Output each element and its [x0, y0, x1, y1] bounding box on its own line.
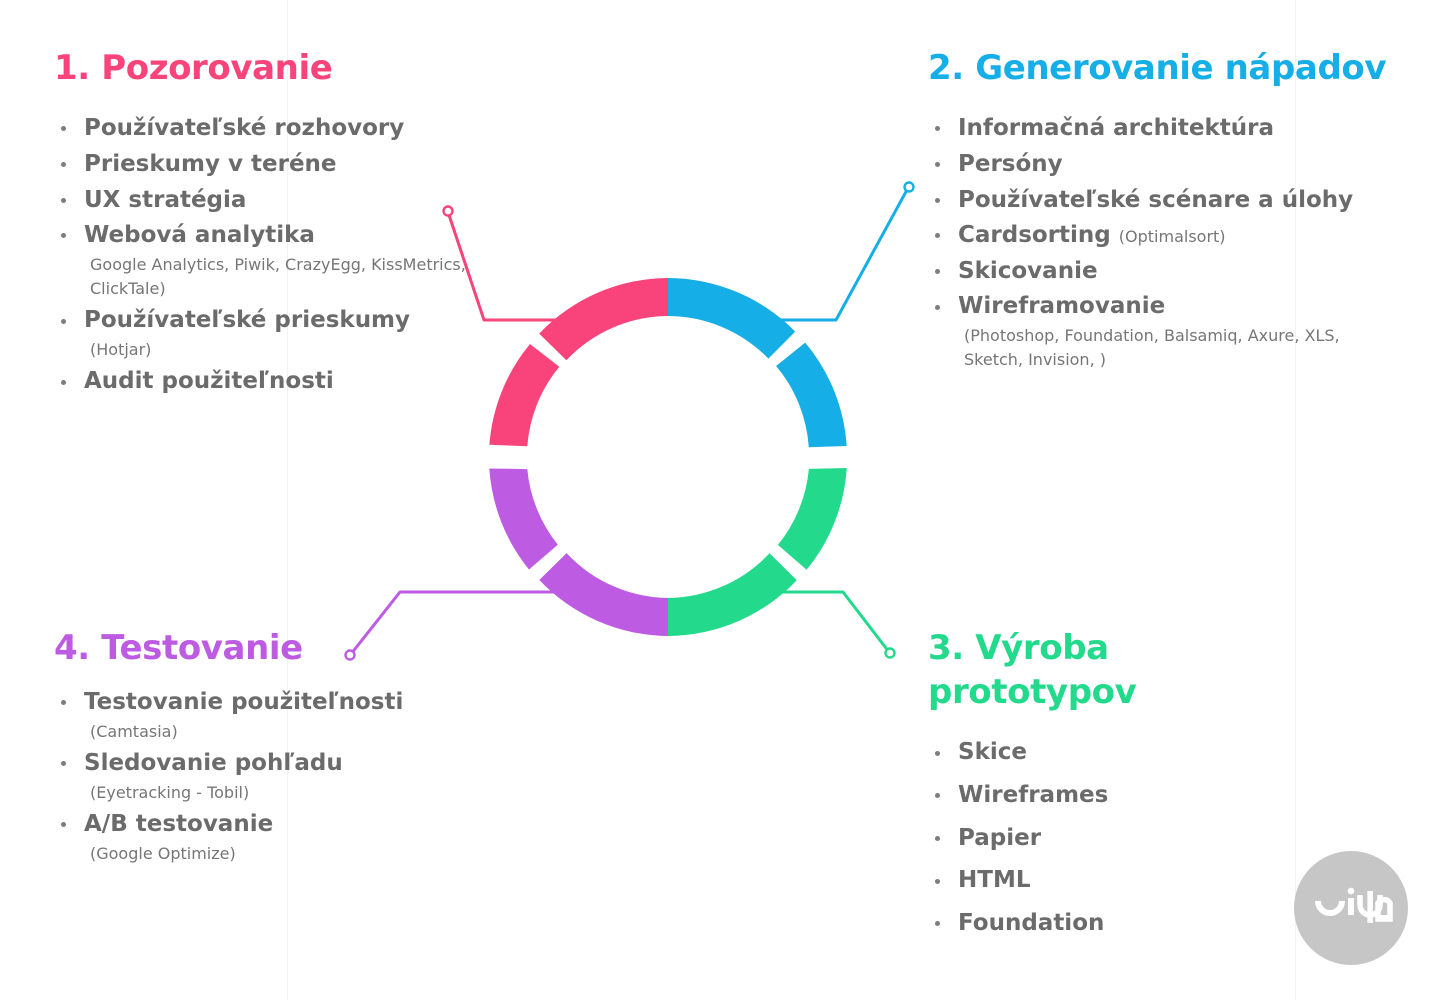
logo-watermark: [1294, 851, 1408, 965]
list-item: Audit použiteľnosti: [54, 365, 484, 398]
section-ideation: 2. Generovanie nápadov Informačná archit…: [928, 46, 1398, 376]
donut-segment-ideation-b: [776, 343, 847, 448]
list-item-label: Používateľské prieskumy: [84, 307, 410, 333]
list-item-label: HTML: [958, 867, 1030, 893]
list-item: Prieskumy v teréne: [54, 148, 484, 181]
bullet-dot: [61, 126, 66, 131]
bullet-dot: [935, 793, 940, 798]
donut-segment-observation-b: [489, 344, 559, 446]
list-item: Sledovanie pohľadu (Eyetracking - Tobil): [54, 747, 484, 805]
list-item: Persóny: [928, 148, 1398, 181]
section-list-testing: Testovanie použiteľnosti (Camtasia) Sled…: [54, 686, 484, 866]
bullet-dot: [935, 305, 940, 310]
bullet-dot: [935, 198, 940, 203]
bullet-dot: [61, 380, 66, 385]
watermark-glyph-icon: [1294, 851, 1408, 965]
list-item-label: Prieskumy v teréne: [84, 151, 337, 177]
list-item-label: Používateľské rozhovory: [84, 115, 404, 141]
section-testing: 4. Testovanie Testovanie použiteľnosti (…: [54, 626, 484, 869]
bullet-dot: [935, 836, 940, 841]
donut-segment-prototyping-a: [778, 468, 847, 570]
donut-segment-ideation-a: [668, 278, 795, 359]
section-title-testing: 4. Testovanie: [54, 626, 484, 670]
list-item: HTML: [928, 864, 1328, 897]
list-item-label: Audit použiteľnosti: [84, 368, 334, 394]
bullet-dot: [61, 822, 66, 827]
list-item-subtext: (Google Optimize): [84, 842, 484, 866]
bullet-dot: [61, 162, 66, 167]
list-item: Používateľské rozhovory: [54, 112, 484, 145]
bullet-dot: [935, 126, 940, 131]
list-item: Cardsorting (Optimalsort): [928, 219, 1398, 252]
list-item-label: Persóny: [958, 151, 1063, 177]
list-item-label: Skicovanie: [958, 258, 1098, 284]
bullet-dot: [61, 198, 66, 203]
list-item: A/B testovanie (Google Optimize): [54, 808, 484, 866]
donut-segment-testing-b: [539, 553, 668, 636]
list-item-label: UX stratégia: [84, 187, 246, 213]
list-item: Testovanie použiteľnosti (Camtasia): [54, 686, 484, 744]
list-item: Skice: [928, 736, 1328, 769]
list-item: Používateľské scénare a úlohy: [928, 184, 1398, 217]
list-item-subtext: (Camtasia): [84, 720, 484, 744]
donut-segment-prototyping-b: [668, 553, 797, 636]
list-item: UX stratégia: [54, 184, 484, 217]
section-title-prototyping: 3. Výroba prototypov: [928, 626, 1328, 714]
list-item-label: Cardsorting: [958, 222, 1111, 248]
donut-segment-observation-a: [539, 278, 668, 360]
section-title-observation: 1. Pozorovanie: [54, 46, 484, 90]
list-item-subtext: Google Analytics, Piwik, CrazyEgg, KissM…: [84, 253, 484, 302]
list-item: Používateľské prieskumy (Hotjar): [54, 304, 484, 362]
bullet-dot: [935, 162, 940, 167]
bullet-dot: [935, 269, 940, 274]
list-item-subtext: (Photoshop, Foundation, Balsamiq, Axure,…: [958, 324, 1398, 373]
section-prototyping: 3. Výroba prototypov Skice Wireframes Pa…: [928, 626, 1328, 950]
bullet-dot: [935, 879, 940, 884]
section-list-prototyping: Skice Wireframes Papier HTML Foundation: [928, 736, 1328, 939]
bullet-dot: [935, 233, 940, 238]
list-item: Skicovanie: [928, 255, 1398, 288]
list-item-label: Foundation: [958, 910, 1104, 936]
bullet-dot: [935, 751, 940, 756]
list-item-subtext: (Hotjar): [84, 338, 484, 362]
connector-line-ideation: [782, 188, 908, 320]
list-item-label: Wireframes: [958, 782, 1108, 808]
list-item: Wireframes: [928, 779, 1328, 812]
bullet-dot: [61, 319, 66, 324]
donut-segment-testing-a: [489, 469, 558, 570]
bullet-dot: [61, 700, 66, 705]
list-item: Papier: [928, 822, 1328, 855]
section-list-ideation: Informačná architektúra Persóny Používat…: [928, 112, 1398, 373]
list-item-label: Informačná architektúra: [958, 115, 1274, 141]
list-item-label: Papier: [958, 825, 1041, 851]
list-item: Foundation: [928, 907, 1328, 940]
list-item-label: Skice: [958, 739, 1027, 765]
list-item-label: Wireframovanie: [958, 293, 1165, 319]
list-item-subtext: (Eyetracking - Tobil): [84, 781, 484, 805]
list-item-label: Sledovanie pohľadu: [84, 750, 343, 776]
list-item-label: Webová analytika: [84, 222, 315, 248]
connector-line-prototyping: [782, 592, 889, 652]
connector-endpoint-ideation: [905, 183, 914, 192]
list-item: Wireframovanie (Photoshop, Foundation, B…: [928, 290, 1398, 372]
section-list-observation: Používateľské rozhovory Prieskumy v teré…: [54, 112, 484, 398]
infographic-canvas: 1. Pozorovanie Používateľské rozhovory P…: [0, 0, 1436, 1000]
list-item-label: Používateľské scénare a úlohy: [958, 187, 1353, 213]
section-observation: 1. Pozorovanie Používateľské rozhovory P…: [54, 46, 484, 401]
bullet-dot: [935, 921, 940, 926]
section-title-ideation: 2. Generovanie nápadov: [928, 46, 1398, 90]
list-item-label: A/B testovanie: [84, 811, 273, 837]
bullet-dot: [61, 233, 66, 238]
bullet-dot: [61, 761, 66, 766]
connector-endpoint-prototyping: [886, 649, 895, 658]
list-item: Webová analytika Google Analytics, Piwik…: [54, 219, 484, 301]
list-item-inline-subtext: (Optimalsort): [1119, 227, 1226, 246]
list-item-label: Testovanie použiteľnosti: [84, 689, 403, 715]
list-item: Informačná architektúra: [928, 112, 1398, 145]
